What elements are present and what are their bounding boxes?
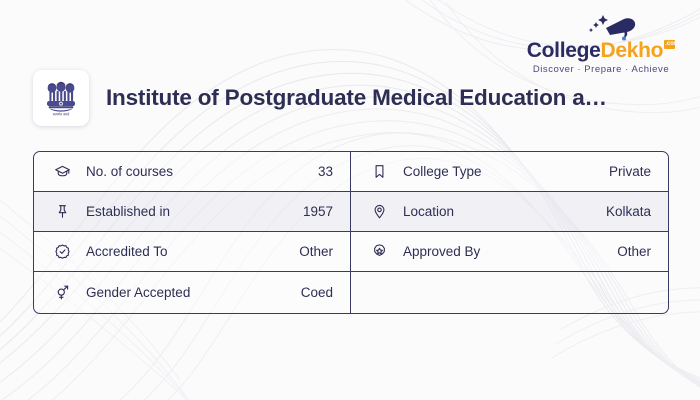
star-badge-icon (370, 243, 388, 261)
brand-name-dekho: Dekho (601, 39, 664, 62)
college-logo: सत्यमेव जयते (33, 70, 89, 126)
page-title: Institute of Postgraduate Medical Educat… (106, 85, 607, 111)
check-badge-icon (53, 243, 71, 261)
row-label: No. of courses (86, 164, 318, 179)
table-row[interactable]: Approved By Other (351, 232, 668, 272)
push-pin-icon (53, 203, 71, 221)
gender-icon (53, 283, 71, 301)
table-row-empty (351, 272, 668, 312)
row-label: Gender Accepted (86, 285, 301, 300)
table-row[interactable]: Accredited To Other (34, 232, 350, 272)
row-value: 33 (318, 164, 333, 179)
table-row[interactable]: Gender Accepted Coed (34, 272, 350, 312)
row-value: Kolkata (606, 204, 651, 219)
row-value: Coed (301, 285, 333, 300)
row-label: Established in (86, 204, 303, 219)
ashoka-emblem-logo: सत्यमेव जयते (39, 76, 83, 120)
table-row[interactable]: Established in 1957 (34, 192, 350, 232)
row-label: Location (403, 204, 606, 219)
row-label: College Type (403, 164, 609, 179)
brand-wordmark: CollegeDekho.com (526, 40, 676, 61)
collegedekho-logo[interactable]: CollegeDekho.com Discover · Prepare · Ac… (526, 18, 676, 75)
page-header: CollegeDekho.com Discover · Prepare · Ac… (0, 0, 700, 150)
table-row[interactable]: No. of courses 33 (34, 152, 350, 192)
table-row[interactable]: College Type Private (351, 152, 668, 192)
college-title-row: सत्यमेव जयते Institute of Postgraduate M… (33, 70, 680, 126)
row-value: Private (609, 164, 651, 179)
info-column-right: College Type Private Location Kolkata Ap… (351, 152, 668, 313)
college-info-table: No. of courses 33 Established in 1957 (33, 151, 669, 314)
bookmark-icon (370, 163, 388, 181)
info-column-left: No. of courses 33 Established in 1957 (34, 152, 351, 313)
brand-name-college: College (527, 39, 601, 62)
svg-text:सत्यमेव जयते: सत्यमेव जयते (53, 112, 70, 117)
graduation-cap-icon (586, 12, 640, 42)
row-value: 1957 (303, 204, 333, 219)
map-pin-icon (370, 203, 388, 221)
row-value: Other (299, 244, 333, 259)
graduation-cap-icon (53, 163, 71, 181)
row-label: Approved By (403, 244, 617, 259)
row-value: Other (617, 244, 651, 259)
brand-dotcom-badge: .com (664, 40, 675, 49)
table-row[interactable]: Location Kolkata (351, 192, 668, 232)
row-label: Accredited To (86, 244, 299, 259)
